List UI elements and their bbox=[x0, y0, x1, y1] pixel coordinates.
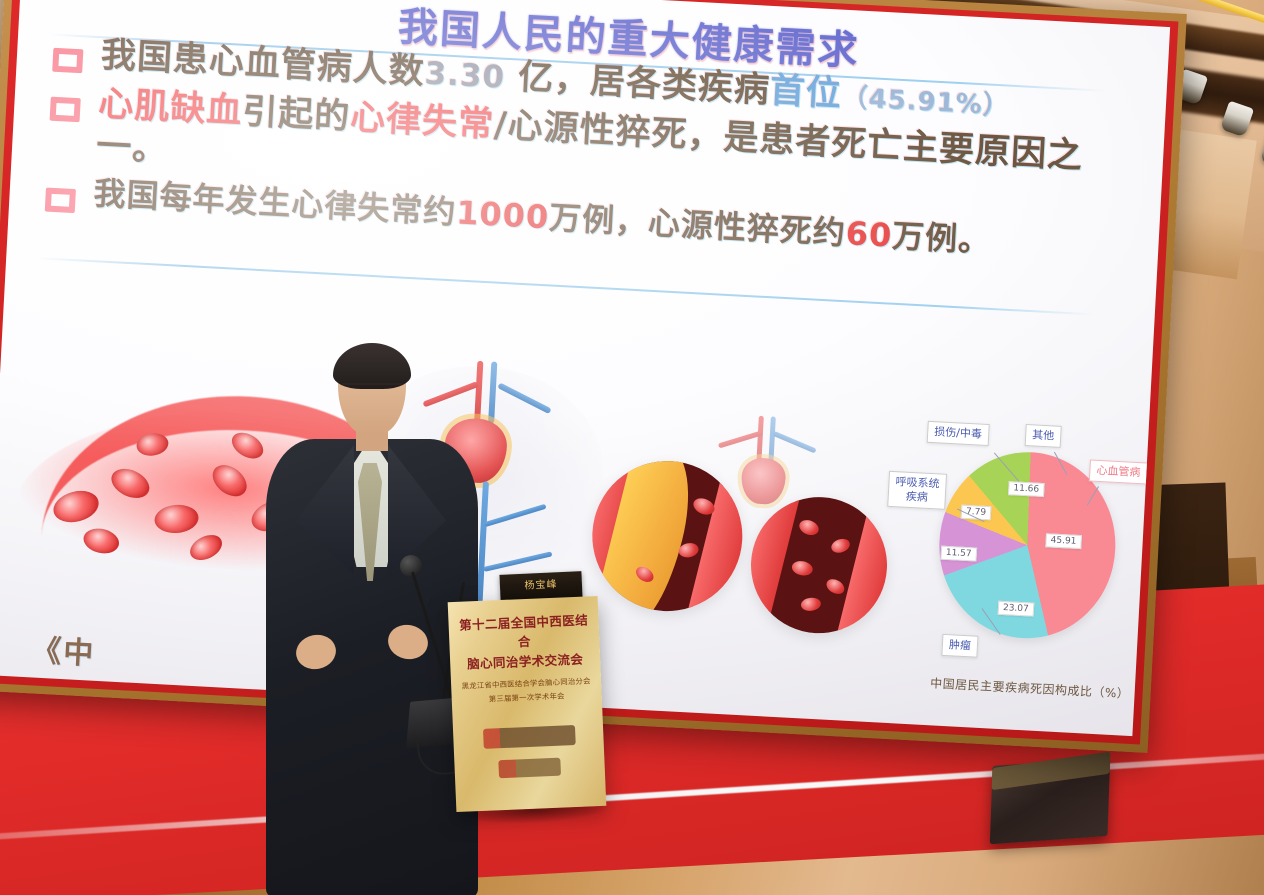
bullet-segment-emphasis: 首位 bbox=[769, 71, 843, 115]
pie-label-respiratory-line2: 疾病 bbox=[905, 489, 928, 503]
pie-label-injury: 损伤/中毒 bbox=[927, 421, 990, 446]
bullet-segment: 万例。 bbox=[891, 217, 992, 260]
bullet-segment-number: 1000 bbox=[455, 193, 550, 236]
pie-chart: 45.91 23.07 11.57 7.79 11.66 心血管病 损伤/中毒 … bbox=[890, 413, 1170, 697]
sponsor-logo-primary bbox=[483, 725, 576, 749]
bullet-segment: 引起的 bbox=[241, 92, 351, 138]
pie-label-other: 其他 bbox=[1025, 424, 1062, 448]
pie-label-respiratory: 呼吸系统 疾病 bbox=[887, 471, 947, 510]
slide-footer-citation: 《中 bbox=[30, 625, 96, 672]
lectern-podium: 第十二届全国中西医结合 脑心同治学术交流会 黑龙江省中西医结合学会脑心同治分会 … bbox=[448, 596, 607, 812]
pie-value-respiratory: 11.57 bbox=[940, 546, 976, 562]
sponsor-logo-secondary bbox=[498, 758, 561, 779]
checkbox-square-icon bbox=[50, 96, 81, 122]
pie-value-tumor: 23.07 bbox=[998, 601, 1034, 617]
podium-conference-title: 第十二届全国中西医结合 脑心同治学术交流会 bbox=[454, 610, 594, 674]
bullet-segment: 万例，心源性猝死约 bbox=[548, 198, 847, 252]
pie-label-cvd: 心血管病 bbox=[1089, 459, 1148, 484]
checkbox-square-icon bbox=[45, 188, 76, 214]
conference-photo-scene: 我国人民的重大健康需求 我国患心血管病人数3.30 亿，居各类疾病首位（45.9… bbox=[0, 0, 1264, 895]
atherosclerotic-plaque-inset bbox=[588, 457, 746, 615]
slide-bullet-list: 我国患心血管病人数3.30 亿，居各类疾病首位（45.91%） 心肌缺血引起的心… bbox=[22, 31, 1156, 276]
pie-label-respiratory-line1: 呼吸系统 bbox=[895, 475, 940, 490]
eyeglasses bbox=[342, 383, 402, 393]
bullet-segment-percent: （45.91%） bbox=[841, 83, 1011, 122]
podium-conference-subtitle: 黑龙江省中西医结合学会脑心同治分会 第三届第一次学术年会 bbox=[457, 674, 596, 708]
pie-label-tumor: 肿瘤 bbox=[941, 634, 978, 658]
stage-monitor-speaker bbox=[990, 758, 1110, 845]
pie-value-other: 11.66 bbox=[1008, 481, 1044, 497]
title-divider-lower bbox=[36, 257, 1095, 315]
bullet-segment-value: 3.30 bbox=[424, 56, 506, 96]
vein bbox=[768, 416, 776, 464]
bullet-segment-highlight: 心肌缺血 bbox=[97, 84, 243, 132]
podium-title-line1: 第十二届全国中西医结合 bbox=[454, 610, 594, 654]
checkbox-square-icon bbox=[52, 48, 83, 74]
bullet-segment-highlight: 心律失常 bbox=[349, 97, 495, 145]
pie-value-cvd: 45.91 bbox=[1045, 533, 1081, 549]
normal-vessel-inset bbox=[747, 494, 890, 637]
vein-branch bbox=[772, 431, 816, 454]
bullet-segment-number: 60 bbox=[845, 214, 893, 254]
